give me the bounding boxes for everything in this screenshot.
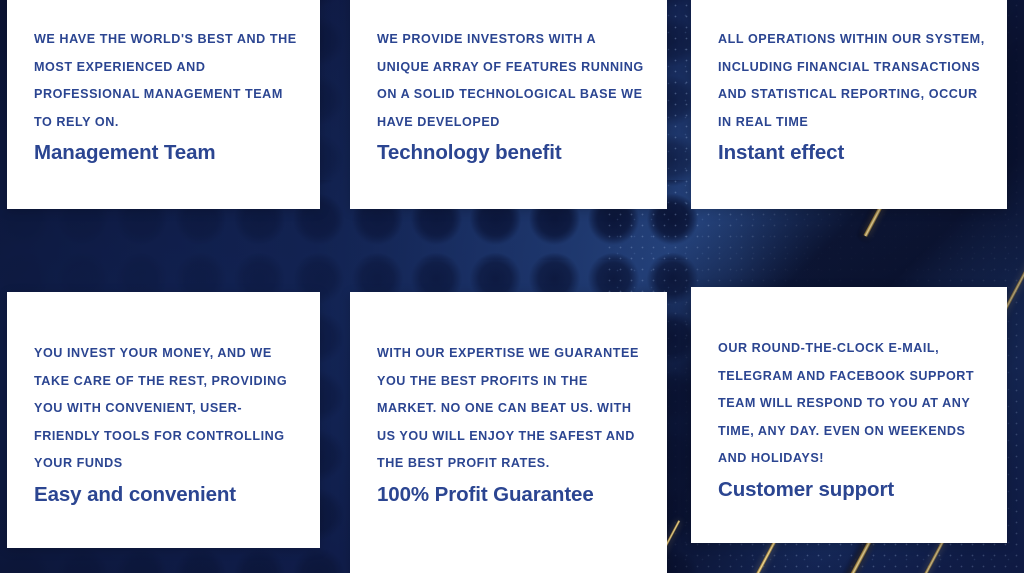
card-title: Customer support <box>718 475 989 505</box>
card-content: WE HAVE THE WORLD'S BEST AND THE MOST EX… <box>34 26 302 168</box>
card-content: ALL OPERATIONS WITHIN OUR SYSTEM, INCLUD… <box>718 26 989 168</box>
card-content: WITH OUR EXPERTISE WE GUARANTEE YOU THE … <box>377 340 649 510</box>
feature-card-profit-guarantee[interactable]: WITH OUR EXPERTISE WE GUARANTEE YOU THE … <box>350 292 667 573</box>
feature-card-technology-benefit[interactable]: WE PROVIDE INVESTORS WITH A UNIQUE ARRAY… <box>350 0 667 209</box>
card-description: WITH OUR EXPERTISE WE GUARANTEE YOU THE … <box>377 340 649 478</box>
card-title: Technology benefit <box>377 138 649 168</box>
card-description: WE PROVIDE INVESTORS WITH A UNIQUE ARRAY… <box>377 26 649 136</box>
card-title: Management Team <box>34 138 302 168</box>
card-content: WE PROVIDE INVESTORS WITH A UNIQUE ARRAY… <box>377 26 649 168</box>
feature-card-instant-effect[interactable]: ALL OPERATIONS WITHIN OUR SYSTEM, INCLUD… <box>691 0 1007 209</box>
feature-card-management-team[interactable]: WE HAVE THE WORLD'S BEST AND THE MOST EX… <box>7 0 320 209</box>
card-description: ALL OPERATIONS WITHIN OUR SYSTEM, INCLUD… <box>718 26 989 136</box>
feature-card-customer-support[interactable]: OUR ROUND-THE-CLOCK E-MAIL, TELEGRAM AND… <box>691 287 1007 543</box>
card-description: YOU INVEST YOUR MONEY, AND WE TAKE CARE … <box>34 340 302 478</box>
card-title: 100% Profit Guarantee <box>377 480 649 510</box>
card-title: Easy and convenient <box>34 480 302 510</box>
card-description: OUR ROUND-THE-CLOCK E-MAIL, TELEGRAM AND… <box>718 335 989 473</box>
card-content: OUR ROUND-THE-CLOCK E-MAIL, TELEGRAM AND… <box>718 335 989 505</box>
feature-card-easy-and-convenient[interactable]: YOU INVEST YOUR MONEY, AND WE TAKE CARE … <box>7 292 320 548</box>
card-title: Instant effect <box>718 138 989 168</box>
card-description: WE HAVE THE WORLD'S BEST AND THE MOST EX… <box>34 26 302 136</box>
features-section: WE HAVE THE WORLD'S BEST AND THE MOST EX… <box>0 0 1024 573</box>
card-content: YOU INVEST YOUR MONEY, AND WE TAKE CARE … <box>34 340 302 510</box>
